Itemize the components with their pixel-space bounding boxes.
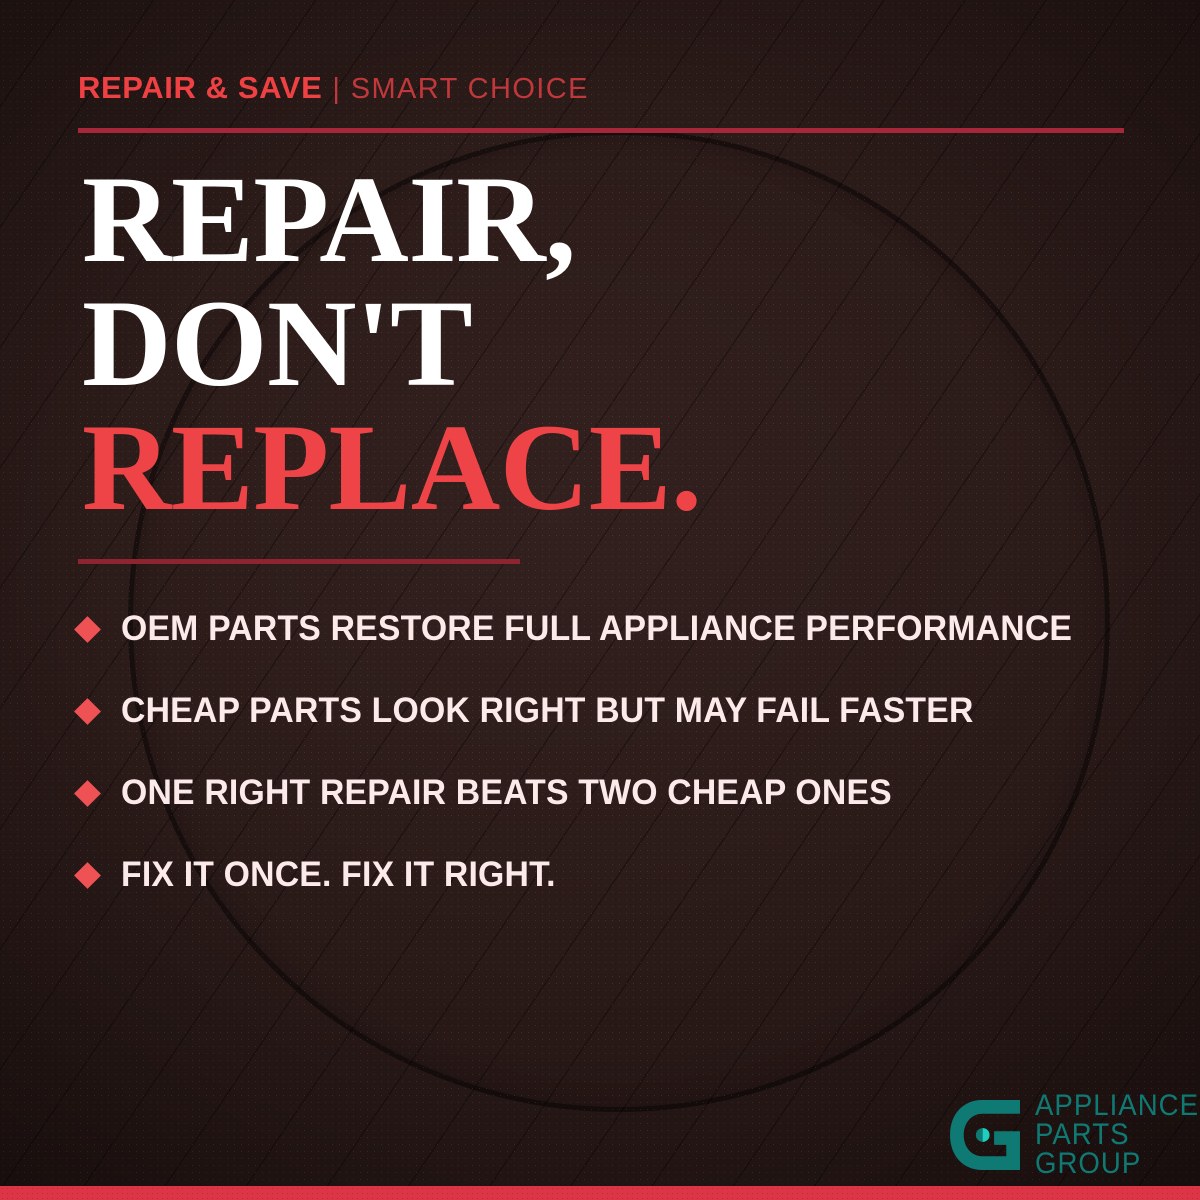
brand-word-1: APPLIANCE bbox=[1035, 1092, 1199, 1121]
list-item-label: FIX IT ONCE. FIX IT RIGHT. bbox=[121, 855, 556, 895]
benefits-list: OEM PARTS RESTORE FULL APPLIANCE PERFORM… bbox=[78, 588, 1148, 916]
list-item-label: OEM PARTS RESTORE FULL APPLIANCE PERFORM… bbox=[121, 609, 1072, 649]
poster-content: REPAIR & SAVE| SMART CHOICE REPAIR, DON'… bbox=[0, 0, 1200, 1200]
diamond-icon bbox=[74, 616, 101, 643]
kicker: REPAIR & SAVE| SMART CHOICE bbox=[78, 72, 589, 104]
headline-line-2: DON'T bbox=[82, 282, 702, 406]
bottom-accent-bar bbox=[0, 1186, 1200, 1200]
kicker-strong-text: REPAIR & SAVE bbox=[78, 70, 322, 105]
brand-wordmark: APPLIANCE PARTS GROUP bbox=[1035, 1092, 1200, 1178]
bottom-bar-noise bbox=[0, 1186, 1200, 1200]
list-item: CHEAP PARTS LOOK RIGHT BUT MAY FAIL FAST… bbox=[78, 670, 1148, 752]
diamond-icon bbox=[74, 862, 101, 889]
list-item-label: CHEAP PARTS LOOK RIGHT BUT MAY FAIL FAST… bbox=[121, 691, 974, 731]
brand-word-3: GROUP bbox=[1035, 1150, 1199, 1179]
brand-word-2: PARTS bbox=[1035, 1121, 1199, 1150]
page-title: REPAIR, DON'T REPLACE. bbox=[82, 158, 702, 530]
list-item: FIX IT ONCE. FIX IT RIGHT. bbox=[78, 834, 1148, 916]
divider-middle bbox=[78, 559, 520, 564]
diamond-icon bbox=[74, 780, 101, 807]
list-item-label: ONE RIGHT REPAIR BEATS TWO CHEAP ONES bbox=[121, 773, 892, 813]
promo-poster: REPAIR & SAVE| SMART CHOICE REPAIR, DON'… bbox=[0, 0, 1200, 1200]
kicker-light-text: | SMART CHOICE bbox=[332, 73, 589, 105]
headline-line-1: REPAIR, bbox=[82, 158, 702, 282]
brand-logo: APPLIANCE PARTS GROUP bbox=[947, 1092, 1200, 1178]
headline-line-3: REPLACE. bbox=[82, 406, 702, 530]
list-item: ONE RIGHT REPAIR BEATS TWO CHEAP ONES bbox=[78, 752, 1148, 834]
g-monogram-icon bbox=[947, 1097, 1023, 1173]
divider-top bbox=[78, 128, 1124, 133]
list-item: OEM PARTS RESTORE FULL APPLIANCE PERFORM… bbox=[78, 588, 1148, 670]
diamond-icon bbox=[74, 698, 101, 725]
